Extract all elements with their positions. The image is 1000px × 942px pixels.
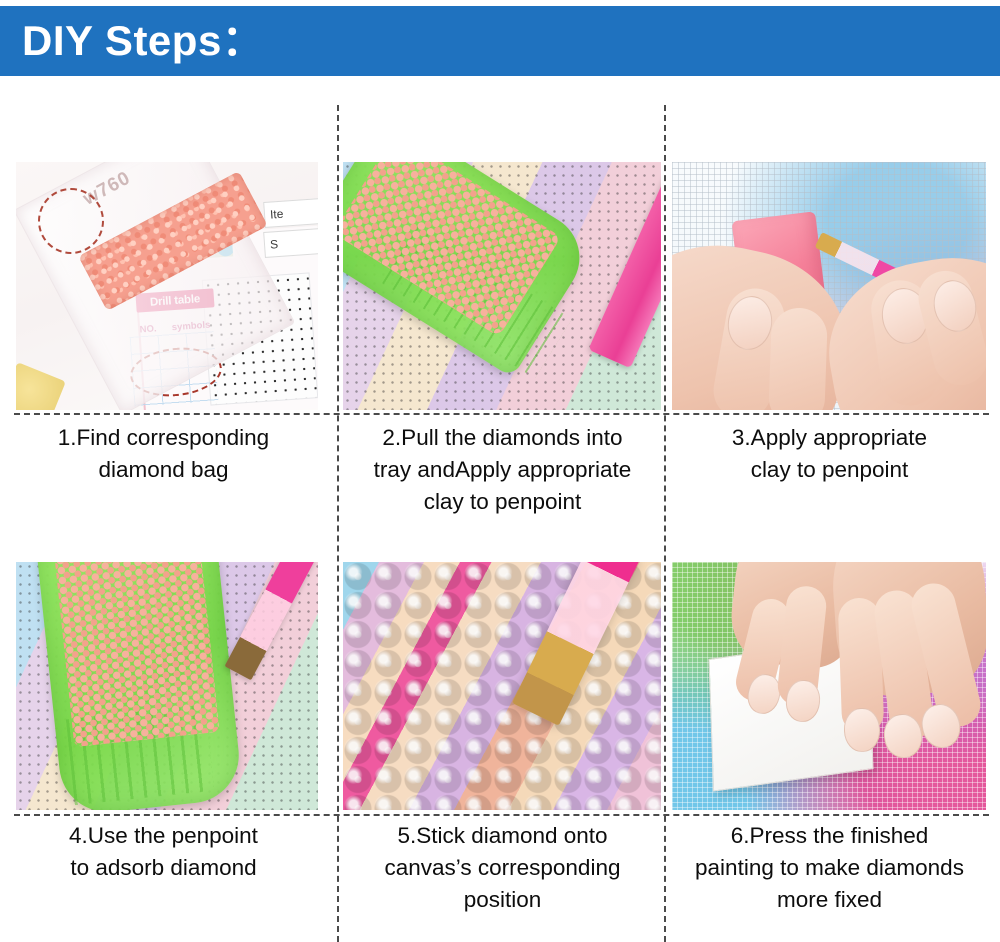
- caption-line: canvas’s corresponding: [345, 852, 660, 884]
- step-caption-6: 6.Press the finished painting to make di…: [672, 820, 987, 916]
- photo-image-6: [672, 562, 986, 810]
- steps-grid: Ite S Drill table NO. symbols w760: [0, 100, 1000, 942]
- photo-apply-clay-to-penpoint: [672, 162, 986, 410]
- caption-line: diamond bag: [6, 454, 321, 486]
- step-caption-1: 1.Find corresponding diamond bag: [6, 422, 321, 486]
- step-cell-6: 6.Press the finished painting to make di…: [666, 500, 993, 813]
- step-cell-2: 2.Pull the diamonds into tray andApply a…: [339, 100, 666, 413]
- photo-image-1: Ite S Drill table NO. symbols w760: [16, 162, 318, 410]
- photo-image-5: [343, 562, 661, 810]
- horizontal-divider-row1: [14, 413, 989, 415]
- header-bar: DIY Steps：: [0, 6, 1000, 76]
- secondary-diamond-bag: [16, 362, 66, 410]
- diamond-drills-in-tray: [54, 562, 219, 747]
- caption-line: 6.Press the finished: [672, 820, 987, 852]
- photo-image-3: [672, 162, 986, 410]
- caption-line: to adsorb diamond: [6, 852, 321, 884]
- step-cell-3: 3.Apply appropriate clay to penpoint: [666, 100, 993, 413]
- caption-line: more fixed: [672, 884, 987, 916]
- caption-line: 2.Pull the diamonds into: [345, 422, 660, 454]
- step-caption-4: 4.Use the penpoint to adsorb diamond: [6, 820, 321, 884]
- photo-adsorb-diamond-with-penpoint: [16, 562, 318, 810]
- caption-line: clay to penpoint: [672, 454, 987, 486]
- photo-image-2: [343, 162, 661, 410]
- caption-line: position: [345, 884, 660, 916]
- horizontal-divider-row2: [14, 814, 989, 816]
- caption-line: painting to make diamonds: [672, 852, 987, 884]
- step-caption-3: 3.Apply appropriate clay to penpoint: [672, 422, 987, 486]
- page-title: DIY Steps：: [0, 20, 264, 62]
- circle-highlight-marker: [38, 188, 104, 254]
- photo-stick-diamond-onto-canvas: [343, 562, 661, 810]
- caption-line: 3.Apply appropriate: [672, 422, 987, 454]
- item-label-1: Ite: [263, 198, 318, 228]
- caption-line: 1.Find corresponding: [6, 422, 321, 454]
- step-cell-5: 5.Stick diamond onto canvas’s correspond…: [339, 500, 666, 813]
- diy-steps-infographic: DIY Steps： Ite S Drill table NO. symbols: [0, 0, 1000, 942]
- caption-line: tray andApply appropriate: [345, 454, 660, 486]
- photo-pour-diamonds-into-tray: [343, 162, 661, 410]
- finger: [768, 307, 828, 410]
- caption-line: 5.Stick diamond onto: [345, 820, 660, 852]
- photo-image-4: [16, 562, 318, 810]
- photo-find-diamond-bag: Ite S Drill table NO. symbols w760: [16, 162, 318, 410]
- fingernail: [843, 707, 881, 752]
- step-caption-5: 5.Stick diamond onto canvas’s correspond…: [345, 820, 660, 916]
- step-cell-4: 4.Use the penpoint to adsorb diamond: [0, 500, 327, 813]
- caption-line: 4.Use the penpoint: [6, 820, 321, 852]
- photo-press-finished-painting: [672, 562, 986, 810]
- step-cell-1: Ite S Drill table NO. symbols w760: [0, 100, 327, 413]
- item-label-2: S: [263, 228, 318, 258]
